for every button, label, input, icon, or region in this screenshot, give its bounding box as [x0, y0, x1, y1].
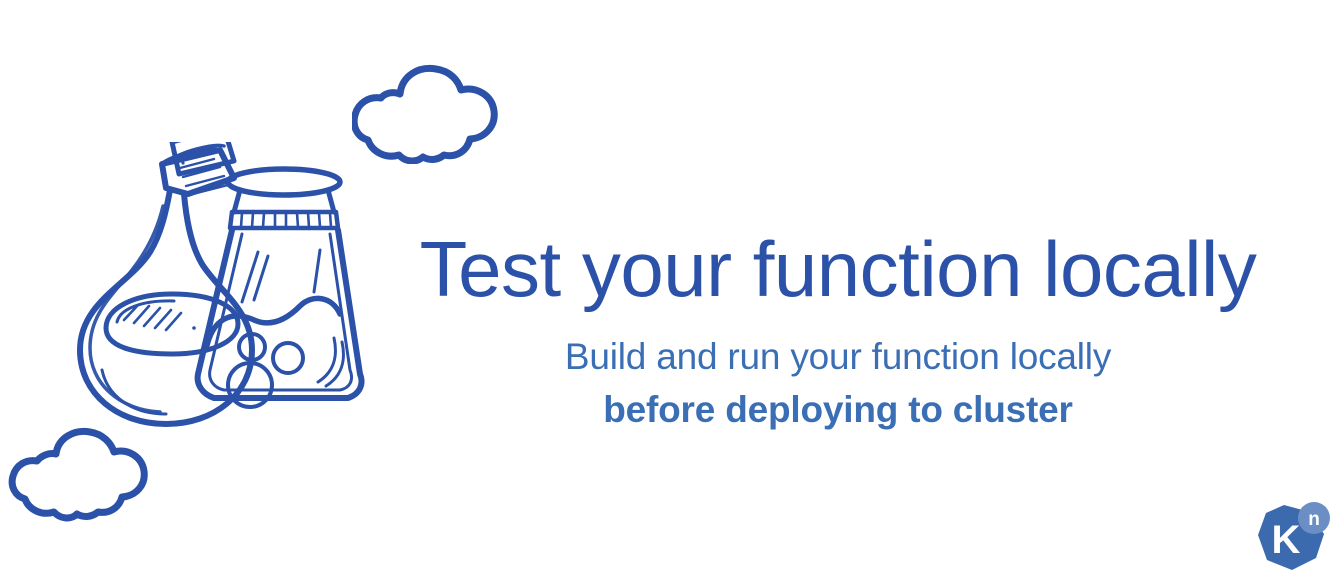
neck-band-ticks — [241, 213, 331, 227]
flask-illustration — [62, 142, 387, 427]
cloud-top-icon — [352, 60, 504, 164]
page-title: Test your function locally — [400, 222, 1276, 316]
subtitle-line-1: Build and run your function locally — [400, 330, 1276, 383]
glass-highlights — [242, 250, 320, 302]
knative-logo: K n — [1252, 500, 1332, 578]
subtitle-line-2: before deploying to cluster — [400, 383, 1276, 436]
cloud-bottom — [4, 424, 152, 522]
knative-k-letter: K — [1272, 518, 1301, 562]
knative-logo-svg: K n — [1252, 500, 1332, 578]
cloud-bottom-icon — [4, 424, 152, 522]
cloud-top — [352, 60, 504, 164]
knative-n-letter: n — [1308, 509, 1320, 530]
slide-canvas: Test your function locally Build and run… — [0, 0, 1341, 585]
subtitle-block: Build and run your function locally befo… — [400, 330, 1276, 436]
text-block: Test your function locally Build and run… — [400, 222, 1276, 436]
flask-illustration-svg — [62, 142, 387, 427]
liquid-hatching — [124, 305, 181, 330]
glass-highlights-lower — [318, 338, 343, 386]
